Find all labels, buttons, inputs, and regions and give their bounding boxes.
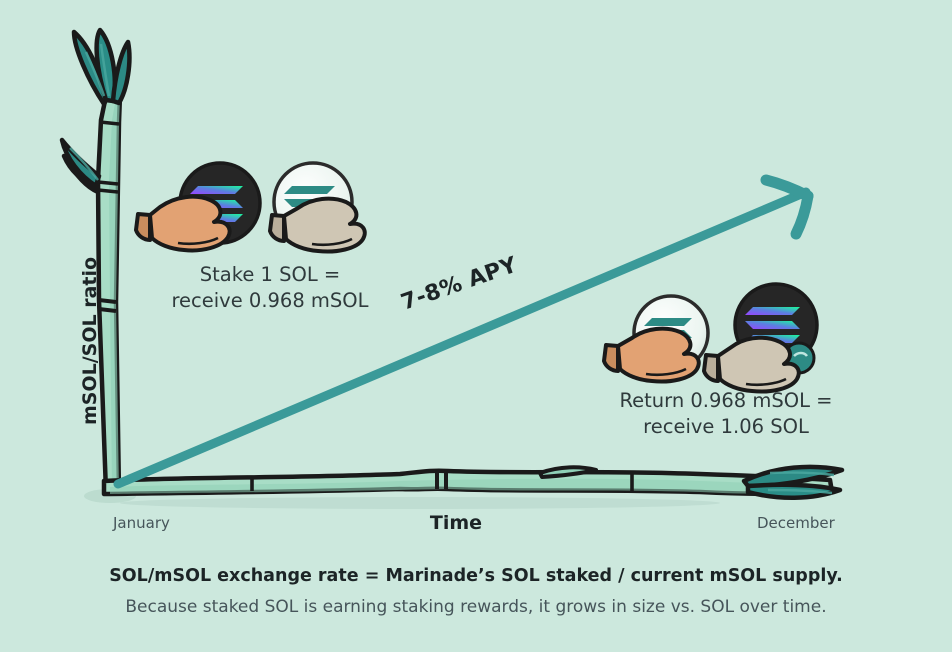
x-axis-label: Time (396, 512, 516, 534)
x-axis-tick-december: December (757, 514, 835, 532)
y-axis-label: mSOL/SOL ratio (79, 246, 101, 436)
hand-holding-coin-grey-icon (270, 163, 365, 252)
infographic-canvas: mSOL/SOL ratio Time January December 7-8… (0, 0, 952, 652)
hand-holding-coin-orange-icon (136, 163, 260, 250)
chart-artwork (0, 0, 952, 652)
caption-primary: SOL/mSOL exchange rate = Marinade’s SOL … (0, 566, 952, 586)
hand-returning-msol-orange-icon (604, 296, 708, 382)
x-axis-tick-january: January (113, 514, 170, 532)
unstake-annotation: Return 0.968 mSOL = receive 1.06 SOL (596, 388, 856, 440)
stake-annotation: Stake 1 SOL = receive 0.968 mSOL (160, 262, 380, 314)
hand-receiving-sol-grey-icon (704, 284, 817, 392)
bamboo-stalk-horizontal-icon (104, 467, 842, 509)
caption-secondary: Because staked SOL is earning staking re… (0, 597, 952, 617)
